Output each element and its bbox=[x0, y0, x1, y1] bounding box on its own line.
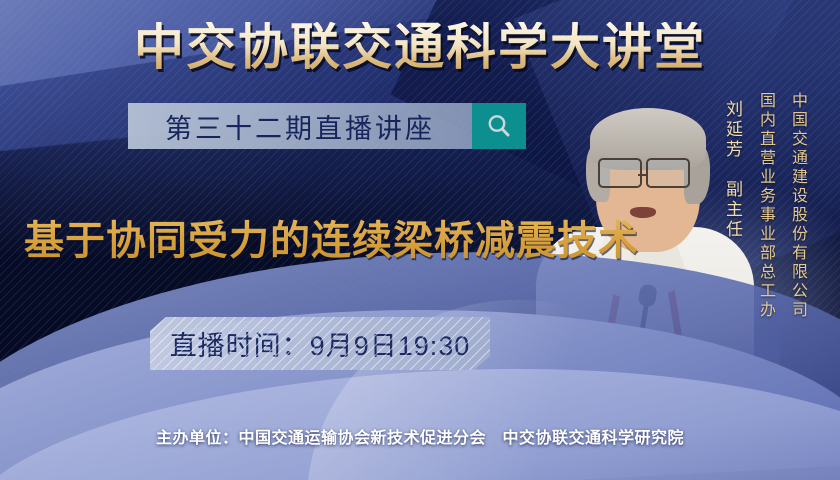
lecture-headline: 基于协同受力的连续梁桥减震技术 bbox=[24, 208, 639, 266]
broadcast-time-label: 直播时间：9月9日19:30 bbox=[170, 324, 471, 363]
organizer-footer: 主办单位：中国交通运输协会新技术促进分会 中交协联交通科学研究院 bbox=[0, 424, 840, 448]
promotional-poster: 中交协联交通科学大讲堂 第三十二期直播讲座 基于协同受力的连续梁桥减震技术 直播… bbox=[0, 0, 840, 480]
subtitle-label: 第三十二期直播讲座 bbox=[128, 103, 472, 149]
speaker-affiliation-line1: 中国交通建设股份有限公司 bbox=[788, 92, 806, 320]
eyeglasses-bridge bbox=[638, 174, 648, 177]
subtitle-bar: 第三十二期直播讲座 bbox=[128, 103, 526, 149]
search-icon[interactable] bbox=[472, 103, 526, 149]
eyeglasses-right-lens bbox=[646, 158, 690, 188]
speaker-affiliation-line2: 国内直营业务事业部总工办 bbox=[756, 92, 774, 320]
speaker-name-title: 刘延芳 副主任 bbox=[723, 100, 742, 240]
broadcast-time-badge: 直播时间：9月9日19:30 bbox=[150, 317, 490, 370]
page-title: 中交协联交通科学大讲堂 bbox=[0, 22, 840, 72]
eyeglasses-left-lens bbox=[598, 158, 642, 188]
